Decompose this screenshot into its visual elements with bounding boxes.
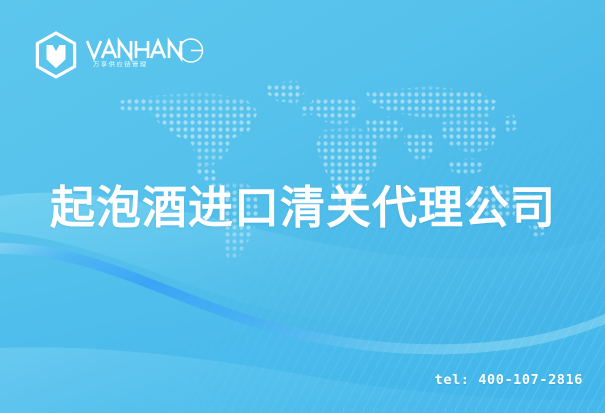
contact-phone[interactable]: tel: 400-107-2816 <box>435 372 583 388</box>
logo-text-block: 万享供应链管理 <box>85 34 205 76</box>
wave-crest <box>0 243 605 354</box>
page-title: 起泡酒进口清关代理公司 <box>50 183 556 233</box>
promo-banner: 万享供应链管理 起泡酒进口清关代理公司 tel: 400-107-2816 <box>0 0 605 413</box>
company-logo[interactable]: 万享供应链管理 <box>34 29 214 81</box>
hexagon-u-shield-icon <box>34 31 78 79</box>
logo-subtitle: 万享供应链管理 <box>93 59 148 68</box>
